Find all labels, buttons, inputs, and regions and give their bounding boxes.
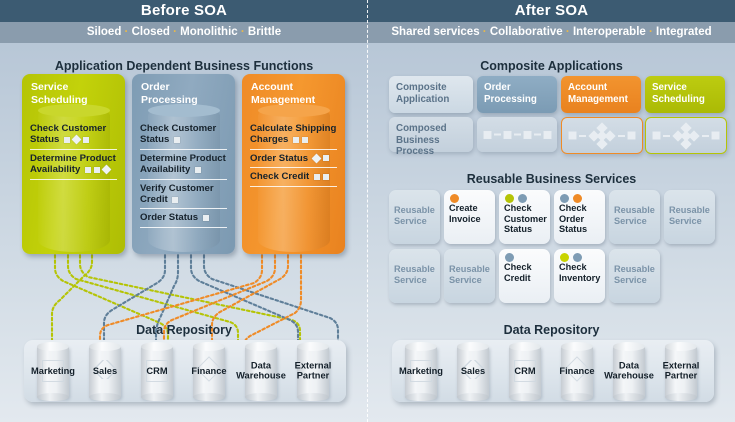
service-tag-dot <box>560 194 569 203</box>
reusable-service-label: ReusableService <box>394 205 437 226</box>
after-soa-title: After SOA <box>368 0 735 22</box>
database-label: Finance <box>180 366 238 376</box>
reusable-service-label: ReusableService <box>669 205 712 226</box>
square-icon <box>94 167 100 173</box>
reusable-service-label: ReusableService <box>614 264 657 285</box>
composite-app-1[interactable]: OrderProcessing <box>477 76 557 113</box>
service-tag-dot <box>573 253 582 262</box>
left-repository-title: Data Repository <box>0 323 368 337</box>
silo-item[interactable]: Verify Customer Credit <box>140 180 229 210</box>
diamond-icon <box>102 165 112 175</box>
cylinder-top <box>245 342 277 351</box>
cylinder-top <box>193 342 225 351</box>
composed-business-process-0[interactable]: ComposedBusiness Process <box>389 117 473 152</box>
silo-item-glyphs <box>291 134 309 145</box>
cylinder-bottom <box>561 393 593 401</box>
cylinder-bottom <box>405 393 437 401</box>
subtitle-part: Siloed <box>87 26 122 38</box>
service-tag-dots <box>560 253 582 262</box>
database-label: Sales <box>444 366 502 376</box>
subtitle-separator: · <box>238 26 248 38</box>
subtitle-separator: · <box>646 26 656 38</box>
database-label: Marketing <box>392 366 450 376</box>
reusable-service-active[interactable]: CheckInventory <box>554 249 605 303</box>
silo-item-glyphs <box>62 134 90 145</box>
database-cylinder[interactable]: ExternalPartner <box>658 342 704 400</box>
square-icon <box>64 137 70 143</box>
reusable-service-label: ReusableService <box>614 205 657 226</box>
service-tag-dot <box>505 253 514 262</box>
square-icon <box>314 174 320 180</box>
silo-item-glyphs <box>83 164 111 175</box>
reusable-service-placeholder[interactable]: ReusableService <box>389 190 440 244</box>
silo-item-label: Order Status <box>140 212 201 223</box>
silo-item-glyphs <box>193 164 202 175</box>
service-tag-dots <box>505 253 514 262</box>
application-dependent-functions-title: Application Dependent Business Functions <box>0 59 368 73</box>
cylinder-top <box>89 342 121 351</box>
cylinder-top <box>561 342 593 351</box>
silo-service-scheduling[interactable]: ServiceScheduling Check Customer Status … <box>22 74 125 254</box>
composite-app-label: AccountManagement <box>568 82 637 105</box>
silo-item-separator <box>30 179 117 180</box>
after-soa-subtitle: Shared services · Collaborative · Intero… <box>368 22 735 43</box>
silo-item-glyphs <box>201 212 210 223</box>
composed-business-process-2[interactable] <box>561 117 643 154</box>
subtitle-separator: · <box>563 26 573 38</box>
reusable-service-label: CheckOrderStatus <box>559 203 602 235</box>
reusable-service-placeholder[interactable]: ReusableService <box>664 190 715 244</box>
silo-item[interactable]: Determine Product Availability <box>30 150 119 180</box>
database-label: Finance <box>548 366 606 376</box>
silo-item[interactable]: Check Credit <box>250 168 339 186</box>
subtitle-separator: · <box>121 26 131 38</box>
subtitle-part: Brittle <box>248 26 281 38</box>
database-cylinder[interactable]: DataWarehouse <box>238 342 284 400</box>
silo-item[interactable]: Calculate Shipping Charges <box>250 120 339 150</box>
database-label: CRM <box>128 366 186 376</box>
cylinder-top <box>613 342 645 351</box>
cylinder-bottom <box>613 393 645 401</box>
composite-app-label: OrderProcessing <box>484 82 553 105</box>
subtitle-part: Shared services <box>391 26 479 38</box>
left-data-repository-panel: MarketingSalesCRMFinanceDataWarehouseExt… <box>24 340 346 402</box>
reusable-service-active[interactable]: CheckCredit <box>499 249 550 303</box>
composite-app-0[interactable]: CompositeApplication <box>389 76 473 113</box>
reusable-service-active[interactable]: CheckCustomerStatus <box>499 190 550 244</box>
composite-app-3[interactable]: ServiceScheduling <box>645 76 725 113</box>
cylinder-bottom <box>509 393 541 401</box>
silo-title: AccountManagement <box>251 81 339 106</box>
composed-business-process-3[interactable] <box>645 117 727 154</box>
subtitle-part: Collaborative <box>490 26 563 38</box>
service-tag-dot <box>505 194 514 203</box>
subtitle-part: Monolithic <box>180 26 238 38</box>
cylinder-top <box>141 342 173 351</box>
reusable-service-active[interactable]: CreateInvoice <box>444 190 495 244</box>
reusable-service-label: ReusableService <box>394 264 437 285</box>
service-tag-dot <box>450 194 459 203</box>
database-cylinder[interactable]: Marketing <box>398 342 444 400</box>
silo-item-label: Determine Product Availability <box>140 153 226 175</box>
database-cylinder[interactable]: Marketing <box>30 342 76 400</box>
square-icon <box>172 197 178 203</box>
silo-item-glyphs <box>311 153 330 164</box>
reusable-service-placeholder[interactable]: ReusableService <box>609 190 660 244</box>
cylinder-top <box>509 342 541 351</box>
before-soa-title: Before SOA <box>0 0 368 22</box>
square-icon <box>203 215 209 221</box>
reusable-service-placeholder[interactable]: ReusableService <box>389 249 440 303</box>
square-icon <box>323 155 329 161</box>
reusable-service-active[interactable]: CheckOrderStatus <box>554 190 605 244</box>
silo-item-label: Check Credit <box>250 171 312 182</box>
silo-item-glyphs <box>172 134 181 145</box>
composite-app-label: CompositeApplication <box>396 82 469 105</box>
database-cylinder[interactable]: Finance <box>186 342 232 400</box>
subtitle-part: Integrated <box>656 26 712 38</box>
square-icon <box>83 137 89 143</box>
database-cylinder[interactable]: CRM <box>134 342 180 400</box>
silo-order-processing[interactable]: OrderProcessing Check Customer Status De… <box>132 74 235 254</box>
reusable-service-label: CheckInventory <box>559 262 602 283</box>
database-label: CRM <box>496 366 554 376</box>
silo-item-separator <box>250 186 337 187</box>
right-repository-title: Data Repository <box>368 323 735 337</box>
silo-item[interactable]: Determine Product Availability <box>140 150 229 180</box>
before-soa-subtitle-bar: Siloed · Closed · Monolithic · Brittle <box>0 22 368 43</box>
cylinder-bottom <box>37 393 69 401</box>
right-data-repository-panel: MarketingSalesCRMFinanceDataWarehouseExt… <box>392 340 714 402</box>
database-label: Sales <box>76 366 134 376</box>
before-soa-title-bar: Before SOA <box>0 0 368 22</box>
silo-item-list: Calculate Shipping Charges Order Status … <box>250 120 339 187</box>
database-cylinder[interactable]: ExternalPartner <box>290 342 336 400</box>
service-tag-dots <box>450 194 459 203</box>
composite-app-label: ServiceScheduling <box>652 82 721 105</box>
silo-item-label: Order Status <box>250 153 311 164</box>
cylinder-top <box>297 342 329 351</box>
silo-item-list: Check Customer Status Determine Product … <box>30 120 119 180</box>
composite-app-2[interactable]: AccountManagement <box>561 76 641 113</box>
subtitle-part: Interoperable <box>573 26 646 38</box>
square-icon <box>302 137 308 143</box>
silo-title: ServiceScheduling <box>31 81 119 106</box>
database-cylinder[interactable]: CRM <box>502 342 548 400</box>
reusable-service-placeholder[interactable]: ReusableService <box>609 249 660 303</box>
cylinder-bottom <box>89 393 121 401</box>
cylinder-top <box>37 342 69 351</box>
silo-item-glyphs <box>312 171 330 182</box>
diamond-icon <box>311 153 321 163</box>
service-tag-dot <box>573 194 582 203</box>
cylinder-bottom <box>141 393 173 401</box>
silo-item[interactable]: Check Customer Status <box>140 120 229 150</box>
cylinder-bottom <box>297 393 329 401</box>
silo-title: OrderProcessing <box>141 81 229 106</box>
square-icon <box>293 137 299 143</box>
reusable-service-label: CreateInvoice <box>449 203 492 224</box>
process-flow-linear <box>477 131 557 138</box>
subtitle-separator: · <box>170 26 180 38</box>
cylinder-top <box>665 342 697 351</box>
reusable-service-label: CheckCustomerStatus <box>504 203 547 235</box>
reusable-business-services-title: Reusable Business Services <box>368 172 735 186</box>
square-icon <box>85 167 91 173</box>
silo-item-glyphs <box>170 194 179 205</box>
service-tag-dots <box>560 194 582 203</box>
database-label: ExternalPartner <box>652 361 710 382</box>
before-soa-subtitle: Siloed · Closed · Monolithic · Brittle <box>0 22 368 43</box>
cylinder-bottom <box>245 393 277 401</box>
subtitle-separator: · <box>480 26 490 38</box>
database-label: DataWarehouse <box>232 361 290 382</box>
silo-item-list: Check Customer Status Determine Product … <box>140 120 229 228</box>
composite-applications-title: Composite Applications <box>368 59 735 73</box>
silo-account-management[interactable]: AccountManagement Calculate Shipping Cha… <box>242 74 345 254</box>
cylinder-top <box>457 342 489 351</box>
after-soa-subtitle-bar: Shared services · Collaborative · Intero… <box>368 22 735 43</box>
process-flow-branch <box>646 124 726 148</box>
silo-item[interactable]: Order Status <box>250 150 339 168</box>
soa-comparison-diagram: Before SOA Siloed · Closed · Monolithic … <box>0 0 735 422</box>
cylinder-bottom <box>665 393 697 401</box>
database-label: ExternalPartner <box>284 361 342 382</box>
cylinder-bottom <box>193 393 225 401</box>
database-cylinder[interactable]: Sales <box>82 342 128 400</box>
square-icon <box>323 174 329 180</box>
reusable-service-label: CheckCredit <box>504 262 547 283</box>
database-label: Marketing <box>24 366 82 376</box>
diamond-icon <box>72 135 82 145</box>
process-label: ComposedBusiness Process <box>396 123 469 158</box>
service-tag-dot <box>560 253 569 262</box>
subtitle-part: Closed <box>132 26 170 38</box>
square-icon <box>195 167 201 173</box>
reusable-service-label: ReusableService <box>449 264 492 285</box>
silo-item[interactable]: Check Customer Status <box>30 120 119 150</box>
database-cylinder[interactable]: Sales <box>450 342 496 400</box>
after-soa-title-bar: After SOA <box>368 0 735 22</box>
service-tag-dots <box>505 194 527 203</box>
database-cylinder[interactable]: DataWarehouse <box>606 342 652 400</box>
service-tag-dot <box>518 194 527 203</box>
process-flow-branch <box>562 124 642 148</box>
reusable-service-placeholder[interactable]: ReusableService <box>444 249 495 303</box>
silo-item-separator <box>140 227 227 228</box>
square-icon <box>174 137 180 143</box>
composed-business-process-1[interactable] <box>477 117 557 152</box>
database-label: DataWarehouse <box>600 361 658 382</box>
database-cylinder[interactable]: Finance <box>554 342 600 400</box>
silo-item[interactable]: Order Status <box>140 209 229 227</box>
cylinder-bottom <box>457 393 489 401</box>
cylinder-top <box>405 342 437 351</box>
